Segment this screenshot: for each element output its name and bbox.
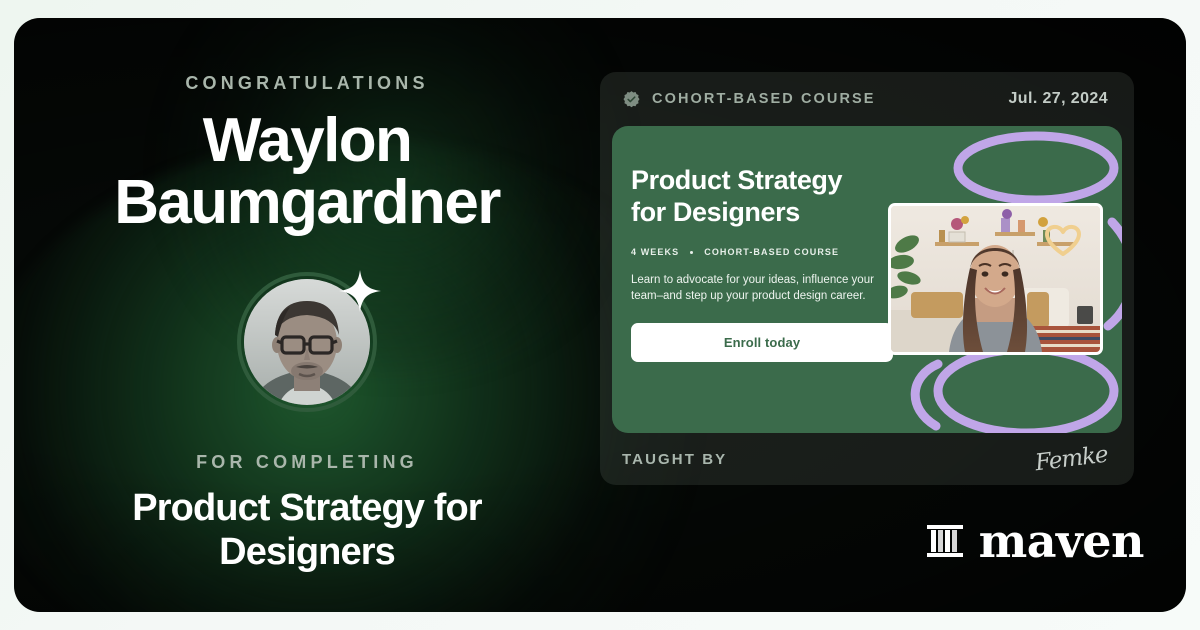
course-description: Learn to advocate for your ideas, influe…	[631, 272, 889, 304]
course-poster-title-line-1: Product Strategy	[631, 164, 907, 196]
course-type-label: COHORT-BASED COURSE	[652, 91, 876, 107]
completed-course-name: Product Strategy for Designers	[14, 486, 600, 574]
course-poster: Product Strategy for Designers 4 WEEKS C…	[612, 126, 1122, 433]
avatar	[237, 272, 377, 412]
course-poster-copy: Product Strategy for Designers 4 WEEKS C…	[631, 164, 907, 362]
meta-separator-dot	[690, 251, 693, 254]
congratulations-label: CONGRATULATIONS	[14, 73, 600, 94]
course-poster-title-line-2: for Designers	[631, 196, 907, 228]
certificate-card: CONGRATULATIONS Waylon Baumgardner	[14, 18, 1186, 612]
course-card-header: COHORT-BASED COURSE Jul. 27, 2024	[600, 72, 1134, 126]
course-date: Jul. 27, 2024	[1009, 90, 1109, 108]
for-completing-label: FOR COMPLETING	[14, 452, 600, 473]
instructor-signature: Femke	[1034, 442, 1109, 477]
maven-pillar-icon	[925, 521, 965, 561]
maven-brand: maven	[925, 518, 1144, 564]
course-format: COHORT-BASED COURSE	[704, 247, 839, 257]
course-duration: 4 WEEKS	[631, 247, 679, 257]
verified-badge-icon	[622, 90, 641, 109]
course-module: COHORT-BASED COURSE Jul. 27, 2024	[600, 72, 1134, 485]
taught-by-label: TAUGHT BY	[622, 451, 727, 468]
course-poster-meta: 4 WEEKS COHORT-BASED COURSE	[631, 247, 907, 257]
course-poster-title: Product Strategy for Designers	[631, 164, 907, 228]
certificate-page: CONGRATULATIONS Waylon Baumgardner	[0, 0, 1200, 630]
instructor-video-thumbnail[interactable]	[888, 203, 1103, 355]
course-card-footer: TAUGHT BY Femke	[600, 433, 1134, 485]
recipient-name: Waylon Baumgardner	[14, 110, 600, 234]
certificate-left-column: CONGRATULATIONS Waylon Baumgardner	[14, 18, 600, 612]
maven-wordmark: maven	[979, 518, 1144, 564]
course-card-chrome: COHORT-BASED COURSE Jul. 27, 2024	[600, 72, 1134, 485]
enroll-today-button[interactable]: Enroll today	[631, 323, 893, 362]
avatar-ring	[237, 272, 377, 412]
